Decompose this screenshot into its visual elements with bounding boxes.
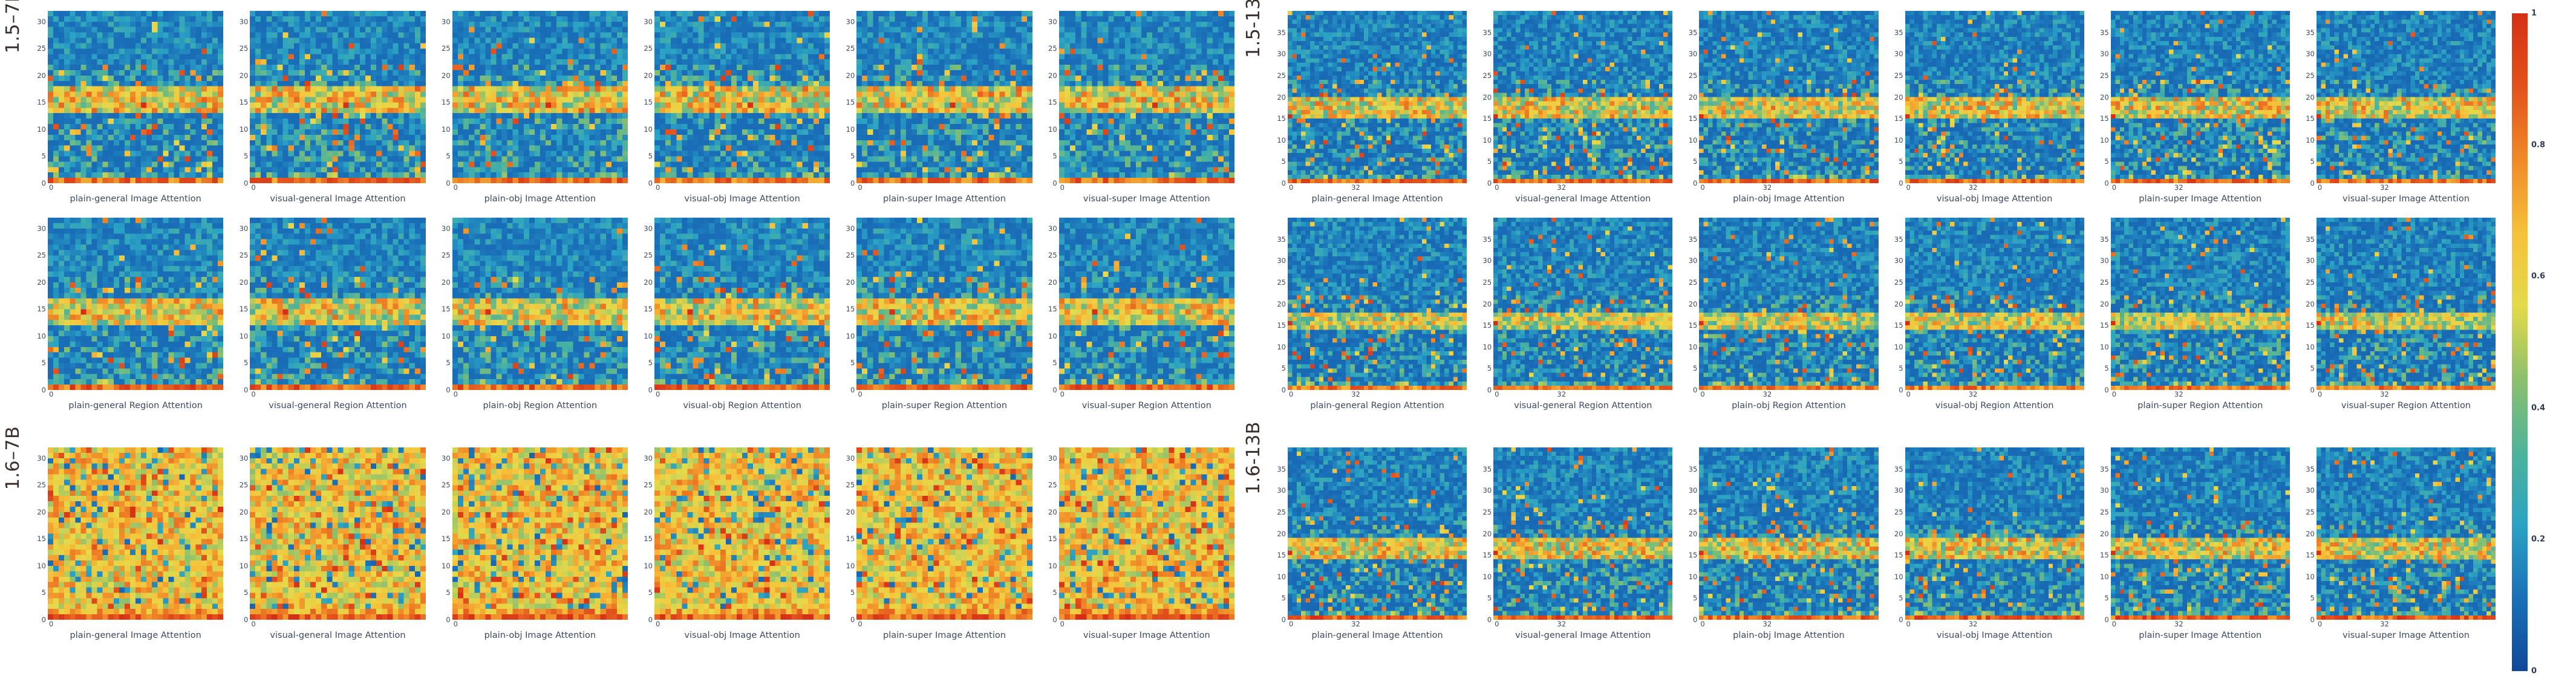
y-tick-label: 0 xyxy=(2310,615,2315,624)
heatmap-canvas-wrap[interactable] xyxy=(250,447,425,620)
y-tick-label: 15 xyxy=(1048,98,1057,106)
y-tick-label: 20 xyxy=(1894,300,1903,308)
subplot-caption: plain-super Region Attention xyxy=(2111,401,2290,411)
y-tick-label: 5 xyxy=(244,359,248,367)
x-axis: 032 xyxy=(1493,183,1672,193)
heatmap-canvas-wrap[interactable] xyxy=(48,447,223,620)
heatmap-canvas[interactable] xyxy=(452,447,628,620)
heatmap-subplot[interactable]: 5101520253000plain-super Region Attentio… xyxy=(835,218,1037,411)
y-axis: 510152025300 xyxy=(32,218,48,390)
heatmap-subplot[interactable]: 51015202530350032plain-super Image Atten… xyxy=(2090,447,2295,640)
heatmap-subplot[interactable]: 51015202530350032visual-obj Image Attent… xyxy=(1884,11,2090,204)
y-axis: 51015202530350 xyxy=(1272,11,1288,183)
y-tick-label: 10 xyxy=(442,562,451,570)
y-tick-label: 10 xyxy=(1689,343,1698,351)
heatmap-subplot[interactable]: 51015202530350032visual-obj Region Atten… xyxy=(1884,218,2090,411)
heatmap-subplot[interactable]: 51015202530350032visual-general Region A… xyxy=(1472,218,1678,411)
y-tick-label: 0 xyxy=(1487,615,1492,624)
heatmap-subplot[interactable]: 5101520253000visual-super Image Attentio… xyxy=(1038,11,1240,204)
plot-area: 51015202530350 xyxy=(2301,11,2496,183)
y-axis: 510152025300 xyxy=(234,218,250,390)
x-tick-label: 0 xyxy=(49,620,53,628)
x-tick-label: 0 xyxy=(251,390,255,398)
y-tick-label: 30 xyxy=(846,18,855,26)
heatmap-subplot[interactable]: 5101520253000visual-general Image Attent… xyxy=(229,11,431,204)
plot-area: 510152025300 xyxy=(437,11,628,183)
x-axis: 032 xyxy=(1493,390,1672,400)
heatmap-subplot[interactable]: 5101520253000plain-obj Image Attention xyxy=(431,11,633,204)
heatmap-canvas-wrap[interactable] xyxy=(250,11,425,183)
heatmap-canvas[interactable] xyxy=(1493,447,1672,620)
subplot-caption: visual-general Image Attention xyxy=(1493,194,1672,204)
subplot-grid: 5101520253000plain-general Image Attenti… xyxy=(27,447,1240,640)
y-tick-label: 10 xyxy=(2100,573,2109,581)
y-tick-label: 10 xyxy=(1483,573,1492,581)
plot-area: 510152025300 xyxy=(639,447,830,620)
heatmap-canvas-wrap[interactable] xyxy=(1905,11,2084,183)
heatmap-canvas[interactable] xyxy=(250,11,425,183)
x-tick-label: 0 xyxy=(1060,183,1065,192)
subplot-caption: visual-super Image Attention xyxy=(1059,194,1234,204)
y-tick-label: 10 xyxy=(1689,136,1698,145)
heatmap-subplot[interactable]: 5101520253000plain-general Region Attent… xyxy=(27,218,229,411)
heatmap-canvas-wrap[interactable] xyxy=(1288,11,1467,183)
subplot-caption: plain-general Image Attention xyxy=(48,194,223,204)
heatmap-canvas[interactable] xyxy=(856,11,1032,183)
y-tick-label: 0 xyxy=(850,179,855,187)
heatmap-subplot[interactable]: 5101520253000visual-obj Image Attention xyxy=(633,11,835,204)
y-tick-label: 0 xyxy=(850,615,855,624)
y-tick-label: 20 xyxy=(2306,530,2315,538)
y-tick-label: 15 xyxy=(37,534,46,543)
y-axis: 51015202530350 xyxy=(1890,447,1905,620)
heatmap-canvas-wrap[interactable] xyxy=(1699,11,1878,183)
heatmap-canvas-wrap[interactable] xyxy=(1905,218,2084,390)
x-axis: 0 xyxy=(1059,390,1234,400)
heatmap-canvas[interactable] xyxy=(2317,218,2496,390)
y-tick-label: 25 xyxy=(1894,71,1903,80)
y-tick-label: 30 xyxy=(1483,50,1492,58)
x-tick-label: 0 xyxy=(251,620,255,628)
y-axis: 51015202530350 xyxy=(1478,447,1493,620)
plot-area: 51015202530350 xyxy=(1478,11,1672,183)
y-tick-label: 25 xyxy=(1048,44,1057,53)
y-tick-label: 30 xyxy=(37,454,46,463)
x-tick-label: 0 xyxy=(454,183,458,192)
heatmap-canvas[interactable] xyxy=(2317,447,2496,620)
plot-area: 510152025300 xyxy=(32,218,223,390)
x-tick-label: 32 xyxy=(1557,183,1566,192)
heatmap-canvas[interactable] xyxy=(654,218,830,390)
y-tick-label: 30 xyxy=(37,18,46,26)
y-tick-label: 5 xyxy=(1487,157,1492,166)
heatmap-canvas[interactable] xyxy=(2111,218,2290,390)
y-tick-label: 10 xyxy=(442,125,451,134)
x-tick-label: 32 xyxy=(2174,183,2183,192)
y-tick-label: 20 xyxy=(644,71,653,80)
plot-area: 51015202530350 xyxy=(2301,218,2496,390)
y-axis: 510152025300 xyxy=(1043,218,1059,390)
x-tick-label: 0 xyxy=(2112,390,2116,398)
heatmap-canvas-wrap[interactable] xyxy=(250,218,425,390)
y-tick-label: 15 xyxy=(2306,551,2315,559)
x-tick-label: 0 xyxy=(1060,390,1065,398)
x-tick-label: 0 xyxy=(858,620,862,628)
row-group-label: 1.5–7B xyxy=(0,11,27,32)
y-tick-label: 30 xyxy=(846,454,855,463)
plot-area: 51015202530350 xyxy=(2095,11,2290,183)
heatmap-canvas[interactable] xyxy=(1059,11,1234,183)
y-tick-label: 15 xyxy=(2100,551,2109,559)
heatmap-subplot[interactable]: 51015202530350032plain-general Image Att… xyxy=(1267,447,1472,640)
heatmap-canvas[interactable] xyxy=(1905,11,2084,183)
heatmap-subplot[interactable]: 51015202530350032visual-general Image At… xyxy=(1472,11,1678,204)
plot-area: 51015202530350 xyxy=(1890,11,2084,183)
subplot-grid: 51015202530350032plain-general Image Att… xyxy=(1267,11,2501,204)
heatmap-canvas[interactable] xyxy=(48,447,223,620)
subplot-grid: 5101520253000plain-general Region Attent… xyxy=(27,218,1240,411)
x-axis: 0 xyxy=(452,183,628,193)
colorbar-tick-label: 0.6 xyxy=(2531,272,2545,281)
heatmap-subplot[interactable]: 5101520253000plain-obj Image Attention xyxy=(431,447,633,640)
y-tick-label: 20 xyxy=(1894,530,1903,538)
heatmap-canvas[interactable] xyxy=(1288,11,1467,183)
y-tick-label: 35 xyxy=(1894,465,1903,473)
y-tick-label: 10 xyxy=(1048,332,1057,340)
y-tick-label: 35 xyxy=(1689,235,1698,244)
heatmap-subplot[interactable]: 51015202530350032plain-general Region At… xyxy=(1267,218,1472,411)
heatmap-canvas[interactable] xyxy=(452,218,628,390)
y-tick-label: 0 xyxy=(42,179,46,187)
panel-7b: 1.5–7B5101520253000plain-general Image A… xyxy=(0,0,1240,682)
y-tick-label: 15 xyxy=(1689,114,1698,123)
heatmap-canvas-wrap[interactable] xyxy=(2111,11,2290,183)
subplot-caption: visual-general Image Attention xyxy=(1493,631,1672,640)
y-tick-label: 0 xyxy=(1487,179,1492,187)
y-tick-label: 30 xyxy=(1277,256,1286,265)
heatmap-canvas-wrap[interactable] xyxy=(452,11,628,183)
x-tick-label: 0 xyxy=(2112,620,2116,628)
subplot-caption: visual-super Image Attention xyxy=(2317,194,2496,204)
y-tick-label: 5 xyxy=(1282,594,1286,602)
heatmap-canvas[interactable] xyxy=(1905,218,2084,390)
y-tick-label: 0 xyxy=(1693,615,1697,624)
y-tick-label: 15 xyxy=(846,305,855,313)
y-tick-label: 35 xyxy=(1483,28,1492,37)
heatmap-canvas[interactable] xyxy=(1699,447,1878,620)
y-tick-label: 10 xyxy=(240,562,249,570)
y-tick-label: 0 xyxy=(446,386,450,394)
x-axis: 0 xyxy=(48,183,223,193)
x-tick-label: 32 xyxy=(1969,183,1978,192)
subplot-caption: plain-super Image Attention xyxy=(2111,194,2290,204)
heatmap-canvas-wrap[interactable] xyxy=(452,218,628,390)
heatmap-subplot[interactable]: 51015202530350032visual-super Region Att… xyxy=(2295,218,2501,411)
y-tick-label: 30 xyxy=(1894,486,1903,495)
subplot-caption: visual-obj Image Attention xyxy=(1905,631,2084,640)
heatmap-canvas-wrap[interactable] xyxy=(856,218,1032,390)
heatmap-canvas-wrap[interactable] xyxy=(2317,447,2496,620)
y-tick-label: 0 xyxy=(648,179,653,187)
x-tick-label: 0 xyxy=(49,183,53,192)
y-tick-label: 30 xyxy=(1048,224,1057,233)
heatmap-canvas-wrap[interactable] xyxy=(654,11,830,183)
heatmap-canvas[interactable] xyxy=(2317,11,2496,183)
heatmap-canvas[interactable] xyxy=(654,11,830,183)
y-tick-label: 15 xyxy=(240,98,249,106)
heatmap-subplot[interactable]: 51015202530350032visual-super Image Atte… xyxy=(2295,11,2501,204)
heatmap-subplot[interactable]: 5101520253000plain-obj Region Attention xyxy=(431,218,633,411)
y-axis: 510152025300 xyxy=(841,218,856,390)
y-tick-label: 15 xyxy=(1894,114,1903,123)
y-tick-label: 0 xyxy=(2104,386,2108,394)
y-tick-label: 25 xyxy=(1483,71,1492,80)
x-axis: 0 xyxy=(1059,183,1234,193)
x-tick-label: 0 xyxy=(1906,390,1911,398)
y-tick-label: 25 xyxy=(1048,481,1057,489)
heatmap-canvas[interactable] xyxy=(48,218,223,390)
y-tick-label: 0 xyxy=(1282,615,1286,624)
heatmap-canvas[interactable] xyxy=(250,447,425,620)
heatmap-canvas-wrap[interactable] xyxy=(1288,447,1467,620)
y-tick-label: 20 xyxy=(37,508,46,516)
y-axis: 510152025300 xyxy=(639,447,654,620)
y-tick-label: 10 xyxy=(1277,343,1286,351)
y-axis: 510152025300 xyxy=(639,11,654,183)
x-axis: 032 xyxy=(1288,620,1467,629)
y-tick-label: 10 xyxy=(644,125,653,134)
y-tick-label: 25 xyxy=(2306,508,2315,516)
heatmap-canvas-wrap[interactable] xyxy=(2111,447,2290,620)
heatmap-subplot[interactable]: 5101520253000plain-general Image Attenti… xyxy=(27,11,229,204)
plot-area: 510152025300 xyxy=(1043,218,1234,390)
heatmap-canvas[interactable] xyxy=(654,447,830,620)
x-tick-label: 0 xyxy=(251,183,255,192)
heatmap-canvas-wrap[interactable] xyxy=(2317,11,2496,183)
y-tick-label: 30 xyxy=(240,18,249,26)
heatmap-canvas[interactable] xyxy=(1288,218,1467,390)
y-tick-label: 25 xyxy=(442,44,451,53)
y-axis: 510152025300 xyxy=(32,11,48,183)
heatmap-canvas-wrap[interactable] xyxy=(1059,447,1234,620)
y-tick-label: 5 xyxy=(1052,152,1057,160)
y-tick-label: 10 xyxy=(240,332,249,340)
heatmap-canvas[interactable] xyxy=(250,218,425,390)
heatmap-canvas-wrap[interactable] xyxy=(1493,11,1672,183)
heatmap-canvas-wrap[interactable] xyxy=(1699,447,1878,620)
y-tick-label: 20 xyxy=(2306,93,2315,102)
heatmap-canvas-wrap[interactable] xyxy=(1288,218,1467,390)
y-tick-label: 5 xyxy=(2104,364,2108,372)
heatmap-row-1: 1.5–7B5101520253000plain-general Image A… xyxy=(0,11,1240,204)
y-axis: 51015202530350 xyxy=(2095,447,2111,620)
y-tick-label: 20 xyxy=(2100,530,2109,538)
y-axis: 51015202530350 xyxy=(2095,218,2111,390)
plot-area: 51015202530350 xyxy=(1272,218,1467,390)
heatmap-canvas-wrap[interactable] xyxy=(452,447,628,620)
y-axis: 51015202530350 xyxy=(1478,11,1493,183)
heatmap-subplot[interactable]: 5101520253000visual-obj Region Attention xyxy=(633,218,835,411)
y-tick-label: 5 xyxy=(244,588,248,597)
y-tick-label: 10 xyxy=(2100,343,2109,351)
y-tick-label: 10 xyxy=(644,332,653,340)
heatmap-canvas-wrap[interactable] xyxy=(1493,447,1672,620)
plot-area: 51015202530350 xyxy=(1478,218,1672,390)
heatmap-canvas-wrap[interactable] xyxy=(856,11,1032,183)
y-tick-label: 15 xyxy=(1483,114,1492,123)
y-tick-label: 15 xyxy=(2100,321,2109,330)
heatmap-canvas[interactable] xyxy=(1493,11,1672,183)
y-tick-label: 35 xyxy=(2306,235,2315,244)
y-tick-label: 10 xyxy=(442,332,451,340)
heatmap-subplot[interactable]: 51015202530350032plain-general Image Att… xyxy=(1267,11,1472,204)
y-tick-label: 10 xyxy=(1689,573,1698,581)
heatmap-canvas[interactable] xyxy=(2111,11,2290,183)
heatmap-canvas-wrap[interactable] xyxy=(856,447,1032,620)
x-tick-label: 0 xyxy=(1906,183,1911,192)
y-tick-label: 5 xyxy=(1693,157,1697,166)
y-axis: 510152025300 xyxy=(437,218,452,390)
y-tick-label: 0 xyxy=(1052,386,1057,394)
heatmap-canvas[interactable] xyxy=(1059,218,1234,390)
subplot-caption: plain-obj Image Attention xyxy=(1699,631,1878,640)
heatmap-canvas-wrap[interactable] xyxy=(2111,218,2290,390)
heatmap-subplot[interactable]: 5101520253000visual-general Image Attent… xyxy=(229,447,431,640)
heatmap-canvas-wrap[interactable] xyxy=(654,218,830,390)
y-axis: 51015202530350 xyxy=(1683,447,1699,620)
y-tick-label: 5 xyxy=(42,152,46,160)
y-tick-label: 25 xyxy=(442,251,451,259)
y-axis: 51015202530350 xyxy=(2301,218,2317,390)
heatmap-canvas[interactable] xyxy=(1699,218,1878,390)
heatmap-canvas[interactable] xyxy=(1699,11,1878,183)
heatmap-canvas[interactable] xyxy=(1493,218,1672,390)
heatmap-canvas[interactable] xyxy=(1288,447,1467,620)
x-axis: 0 xyxy=(48,390,223,400)
y-tick-label: 35 xyxy=(1277,235,1286,244)
y-axis: 510152025300 xyxy=(639,218,654,390)
plot-area: 510152025300 xyxy=(234,447,425,620)
heatmap-subplot[interactable]: 51015202530350032plain-super Image Atten… xyxy=(2090,11,2295,204)
plot-area: 510152025300 xyxy=(1043,11,1234,183)
x-tick-label: 32 xyxy=(1763,620,1772,628)
heatmap-subplot[interactable]: 5101520253000plain-general Image Attenti… xyxy=(27,447,229,640)
heatmap-canvas[interactable] xyxy=(452,11,628,183)
heatmap-subplot[interactable]: 5101520253000visual-obj Image Attention xyxy=(633,447,835,640)
y-tick-label: 15 xyxy=(1894,551,1903,559)
plot-area: 510152025300 xyxy=(234,218,425,390)
y-tick-label: 35 xyxy=(2306,465,2315,473)
heatmap-canvas-wrap[interactable] xyxy=(48,11,223,183)
x-tick-label: 32 xyxy=(1351,390,1360,398)
x-tick-label: 0 xyxy=(858,183,862,192)
x-axis: 032 xyxy=(1493,620,1672,629)
x-axis: 0 xyxy=(250,183,425,193)
x-tick-label: 32 xyxy=(2380,183,2389,192)
heatmap-canvas[interactable] xyxy=(1059,447,1234,620)
heatmap-subplot[interactable]: 51015202530350032visual-general Image At… xyxy=(1472,447,1678,640)
y-tick-label: 25 xyxy=(1689,508,1698,516)
heatmap-canvas[interactable] xyxy=(2111,447,2290,620)
y-tick-label: 25 xyxy=(1048,251,1057,259)
x-axis: 032 xyxy=(2111,390,2290,400)
y-tick-label: 20 xyxy=(1689,93,1698,102)
y-tick-label: 25 xyxy=(37,44,46,53)
heatmap-canvas-wrap[interactable] xyxy=(1699,218,1878,390)
plot-area: 51015202530350 xyxy=(1272,11,1467,183)
x-tick-label: 32 xyxy=(2174,390,2183,398)
heatmap-canvas-wrap[interactable] xyxy=(1059,218,1234,390)
y-tick-label: 5 xyxy=(446,152,450,160)
heatmap-subplot[interactable]: 51015202530350032plain-obj Image Attenti… xyxy=(1678,447,1883,640)
heatmap-subplot[interactable]: 5101520253000plain-super Image Attention xyxy=(835,447,1037,640)
heatmap-subplot[interactable]: 5101520253000plain-super Image Attention xyxy=(835,11,1037,204)
heatmap-subplot[interactable]: 51015202530350032plain-obj Region Attent… xyxy=(1678,218,1883,411)
attention-colorbar xyxy=(2512,13,2528,671)
heatmap-row-2: 51015202530350032plain-general Region At… xyxy=(1240,218,2501,411)
heatmap-canvas[interactable] xyxy=(856,218,1032,390)
x-axis: 0 xyxy=(452,620,628,629)
heatmap-canvas-wrap[interactable] xyxy=(1059,11,1234,183)
y-tick-label: 15 xyxy=(1048,305,1057,313)
y-axis: 510152025300 xyxy=(1043,447,1059,620)
y-tick-label: 15 xyxy=(1277,114,1286,123)
y-tick-label: 5 xyxy=(648,588,653,597)
heatmap-canvas-wrap[interactable] xyxy=(1493,218,1672,390)
y-tick-label: 15 xyxy=(2306,321,2315,330)
y-tick-label: 15 xyxy=(644,305,653,313)
y-tick-label: 20 xyxy=(442,71,451,80)
heatmap-subplot[interactable]: 51015202530350032visual-super Image Atte… xyxy=(2295,447,2501,640)
heatmap-subplot[interactable]: 5101520253000visual-general Region Atten… xyxy=(229,218,431,411)
y-tick-label: 15 xyxy=(442,98,451,106)
heatmap-canvas-wrap[interactable] xyxy=(654,447,830,620)
y-tick-label: 10 xyxy=(1894,136,1903,145)
heatmap-canvas-wrap[interactable] xyxy=(2317,218,2496,390)
heatmap-subplot[interactable]: 5101520253000visual-super Region Attenti… xyxy=(1038,218,1240,411)
y-tick-label: 10 xyxy=(1483,343,1492,351)
heatmap-subplot[interactable]: 51015202530350032visual-obj Image Attent… xyxy=(1884,447,2090,640)
y-tick-label: 10 xyxy=(37,332,46,340)
y-axis: 510152025300 xyxy=(437,447,452,620)
heatmap-subplot[interactable]: 5101520253000visual-super Image Attentio… xyxy=(1038,447,1240,640)
y-tick-label: 20 xyxy=(1689,530,1698,538)
x-axis: 0 xyxy=(250,620,425,629)
y-tick-label: 20 xyxy=(644,508,653,516)
subplot-caption: plain-general Image Attention xyxy=(48,631,223,640)
y-tick-label: 15 xyxy=(240,305,249,313)
y-tick-label: 5 xyxy=(446,359,450,367)
heatmap-subplot[interactable]: 51015202530350032plain-super Region Atte… xyxy=(2090,218,2295,411)
y-tick-label: 10 xyxy=(1048,562,1057,570)
y-tick-label: 15 xyxy=(644,98,653,106)
y-tick-label: 25 xyxy=(1277,508,1286,516)
x-axis: 032 xyxy=(1699,620,1878,629)
y-tick-label: 35 xyxy=(1894,235,1903,244)
heatmap-subplot[interactable]: 51015202530350032plain-obj Image Attenti… xyxy=(1678,11,1883,204)
heatmap-canvas-wrap[interactable] xyxy=(1905,447,2084,620)
y-tick-label: 15 xyxy=(1689,321,1698,330)
heatmap-canvas[interactable] xyxy=(856,447,1032,620)
heatmap-canvas-wrap[interactable] xyxy=(48,218,223,390)
y-tick-label: 15 xyxy=(37,98,46,106)
y-tick-label: 35 xyxy=(2100,28,2109,37)
heatmap-canvas[interactable] xyxy=(1905,447,2084,620)
y-tick-label: 5 xyxy=(42,588,46,597)
heatmap-canvas[interactable] xyxy=(48,11,223,183)
y-tick-label: 25 xyxy=(442,481,451,489)
plot-area: 51015202530350 xyxy=(1683,447,1878,620)
